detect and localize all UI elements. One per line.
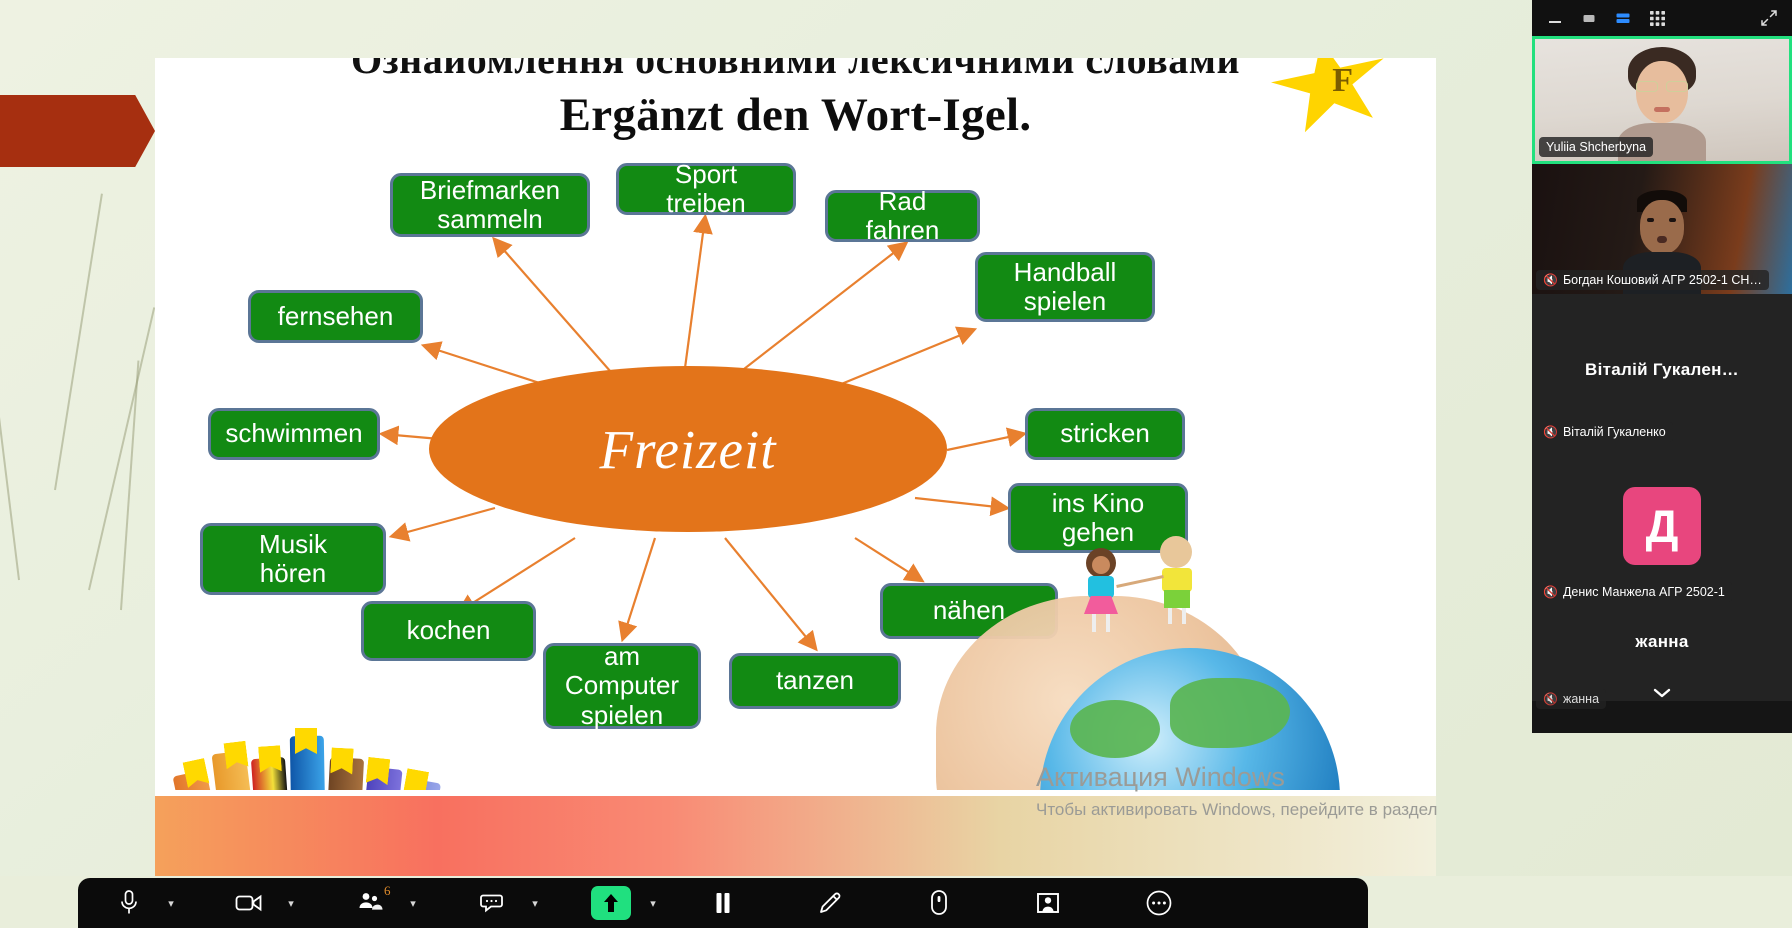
video-tile-participant[interactable]: 🔇 Богдан Кошовий АГР 2502-1 СН… [1532, 164, 1792, 294]
grass-decoration [54, 194, 103, 491]
participant-display-name: Віталій Гукален… [1577, 360, 1747, 380]
grass-decoration [0, 252, 20, 580]
word-box-stricken: stricken [1025, 408, 1185, 460]
toolbar-group-video: ▾ [220, 878, 304, 928]
participant-face [1624, 47, 1700, 147]
mouse-icon[interactable] [910, 878, 968, 928]
arrow-2 [735, 244, 905, 376]
word-box-tanzen: tanzen [729, 653, 901, 709]
participant-name: Денис Манжела АГР 2502-1 [1563, 585, 1725, 599]
participant-nametag: 🔇 Денис Манжела АГР 2502-1 [1536, 582, 1732, 602]
video-tile-active-speaker[interactable]: Yuliia Shcherbyna [1532, 36, 1792, 164]
participants-count-badge: 6 [384, 883, 391, 899]
participant-nametag: 🔇 Віталій Гукаленко [1536, 422, 1673, 442]
share-screen-button[interactable] [582, 878, 640, 928]
pause-icon[interactable] [694, 878, 752, 928]
pencil-icon[interactable] [802, 878, 860, 928]
arrow-10 [855, 538, 921, 580]
video-panel-header [1532, 0, 1792, 36]
zoom-video-panel: Yuliia Shcherbyna 🔇 Богдан Кошовий АГР 2… [1532, 0, 1792, 733]
participant-nametag: Yuliia Shcherbyna [1539, 137, 1653, 157]
expand-arrows-icon[interactable] [1758, 7, 1780, 29]
arrow-8 [393, 508, 495, 536]
slide-bottom-gradient [155, 796, 1436, 876]
participant-nametag: 🔇 Богдан Кошовий АГР 2502-1 СН… [1536, 270, 1769, 290]
more-dots-icon[interactable] [1130, 878, 1188, 928]
participants-icon[interactable]: 6 [342, 878, 400, 928]
shared-screen-area: Ознайомлення основними лексичними словам… [0, 0, 1792, 876]
microphone-options-caret[interactable]: ▾ [158, 878, 184, 928]
arrow-0 [495, 240, 625, 388]
participant-name: Віталій Гукаленко [1563, 425, 1666, 439]
cut-off-heading: Ознайомлення основними лексичними словам… [155, 58, 1436, 83]
worksheet-slide: Ознайомлення основними лексичними словам… [155, 58, 1436, 876]
red-chevron-banner [0, 95, 155, 167]
video-tile-avatar[interactable]: Д 🔇 Денис Манжела АГР 2502-1 [1532, 446, 1792, 606]
arrow-1 [685, 218, 705, 368]
microphone-icon[interactable] [100, 878, 158, 928]
word-box-musik-hoeren: Musik hören [200, 523, 386, 595]
video-options-caret[interactable]: ▾ [278, 878, 304, 928]
participant-name: Yuliia Shcherbyna [1546, 140, 1646, 154]
chat-options-caret[interactable]: ▾ [522, 878, 548, 928]
zoom-meeting-toolbar: ▾ ▾ 6 ▾ [78, 878, 1368, 928]
arrow-6 [947, 434, 1023, 450]
avatar: Д [1623, 487, 1701, 565]
video-camera-icon[interactable] [220, 878, 278, 928]
share-screen-icon[interactable] [591, 886, 631, 920]
grid-view-icon[interactable] [1646, 7, 1668, 29]
video-tile-no-camera[interactable]: Віталій Гукален… 🔇 Віталій Гукаленко [1532, 294, 1792, 446]
participants-options-caret[interactable]: ▾ [400, 878, 426, 928]
center-node-label: Freizeit [599, 418, 776, 481]
muted-microphone-icon: 🔇 [1543, 273, 1558, 287]
arrow-11 [623, 538, 655, 638]
share-options-caret[interactable]: ▾ [640, 878, 666, 928]
minimize-icon[interactable] [1544, 7, 1566, 29]
chevron-down-icon[interactable] [1532, 687, 1792, 699]
word-box-fernsehen: fernsehen [248, 290, 423, 343]
grass-decoration [88, 307, 155, 590]
participant-display-name: жанна [1627, 632, 1696, 652]
word-box-briefmarken-sammeln: Briefmarken sammeln [390, 173, 590, 237]
word-box-am-computer-spielen: am Computer spielen [543, 643, 701, 729]
split-view-icon[interactable] [1612, 7, 1634, 29]
word-box-schwimmen: schwimmen [208, 408, 380, 460]
toolbar-group-share: ▾ [582, 878, 666, 928]
kids-clipart [1076, 518, 1226, 638]
word-box-handball-spielen: Handball spielen [975, 252, 1155, 322]
toolbar-group-participants: 6 ▾ [342, 878, 426, 928]
person-video-icon[interactable] [1020, 878, 1078, 928]
slide-title: Ergänzt den Wort-Igel. [155, 88, 1436, 142]
arrow-12 [725, 538, 815, 648]
arrow-7 [915, 498, 1006, 508]
maximize-icon[interactable] [1578, 7, 1600, 29]
chat-bubble-icon[interactable] [464, 878, 522, 928]
grass-decoration [120, 361, 139, 611]
word-box-rad-fahren: Rad fahren [825, 190, 980, 242]
video-tile-partial[interactable]: жанна 🔇 жанна [1532, 606, 1792, 701]
word-box-kochen: kochen [361, 601, 536, 661]
word-box-sport-treiben: Sport treiben [616, 163, 796, 215]
center-node-freizeit: Freizeit [429, 366, 947, 532]
muted-microphone-icon: 🔇 [1543, 425, 1558, 439]
participant-name: Богдан Кошовий АГР 2502-1 СН… [1563, 273, 1762, 287]
muted-microphone-icon: 🔇 [1543, 585, 1558, 599]
toolbar-group-chat: ▾ [464, 878, 548, 928]
toolbar-group-mute: ▾ [100, 878, 184, 928]
